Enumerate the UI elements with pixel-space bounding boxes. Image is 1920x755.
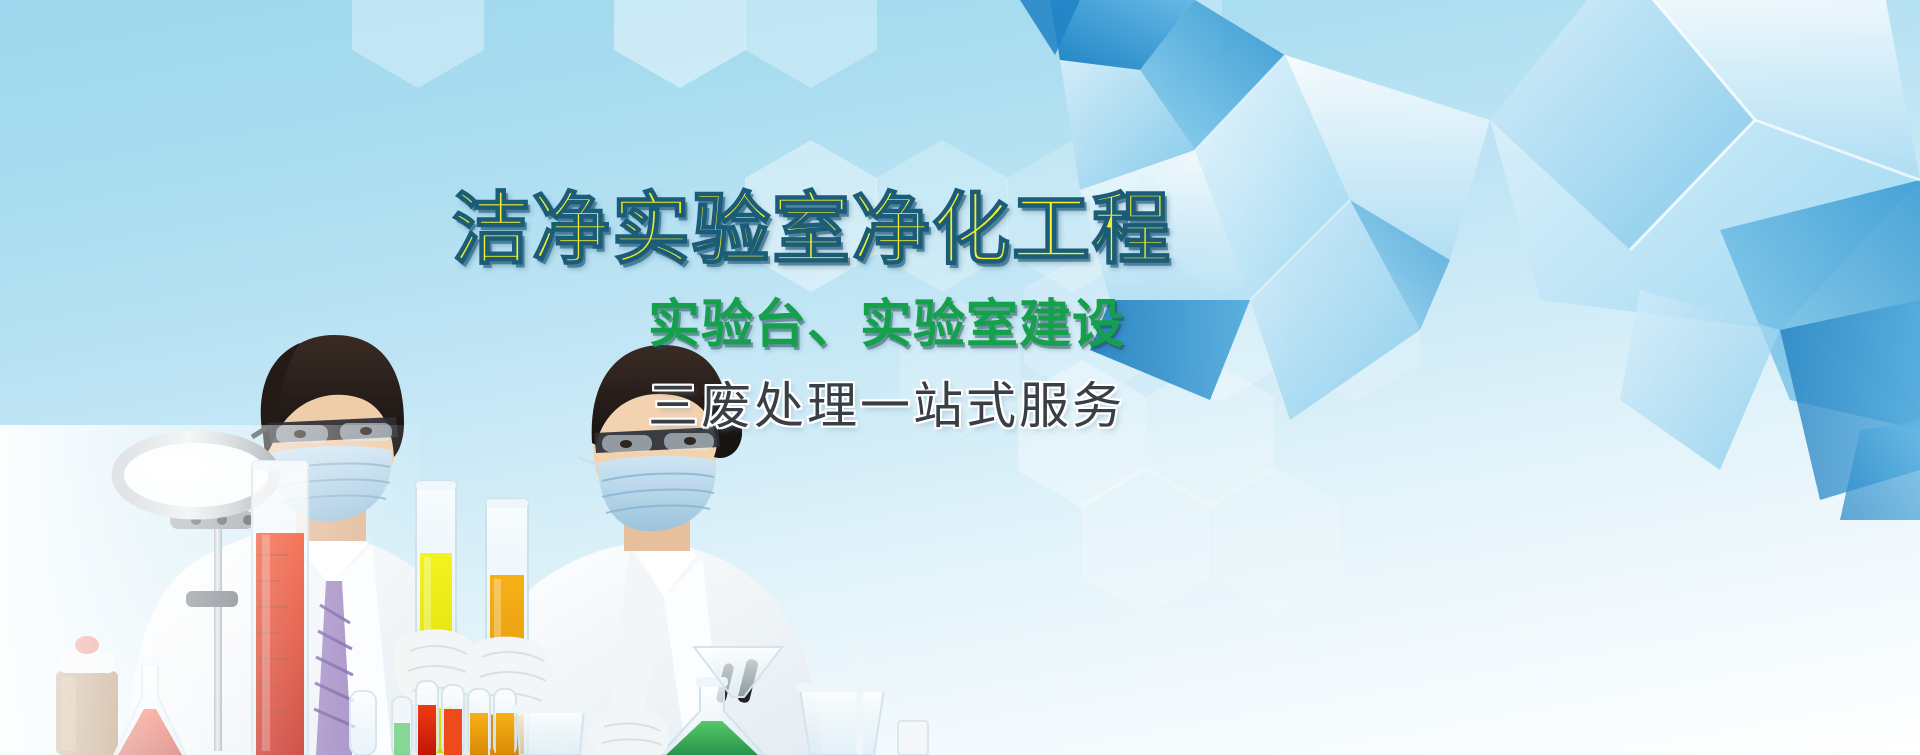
- headline-block: 洁净实验室净化工程 实验台、实验室建设 三废处理一站式服务: [0, 0, 1920, 755]
- promo-banner: 洁净实验室净化工程 实验台、实验室建设 三废处理一站式服务: [0, 0, 1920, 755]
- banner-headline: 洁净实验室净化工程: [452, 186, 1172, 272]
- banner-subheadline: 实验台、实验室建设: [648, 296, 1125, 354]
- hexagon-mesh: [0, 0, 1920, 755]
- crystal-polygons: [1020, 0, 1920, 520]
- photo-fade-overlay: [0, 425, 420, 755]
- laboratory-photo: [0, 285, 980, 755]
- banner-tagline: 三废处理一站式服务: [648, 378, 1125, 434]
